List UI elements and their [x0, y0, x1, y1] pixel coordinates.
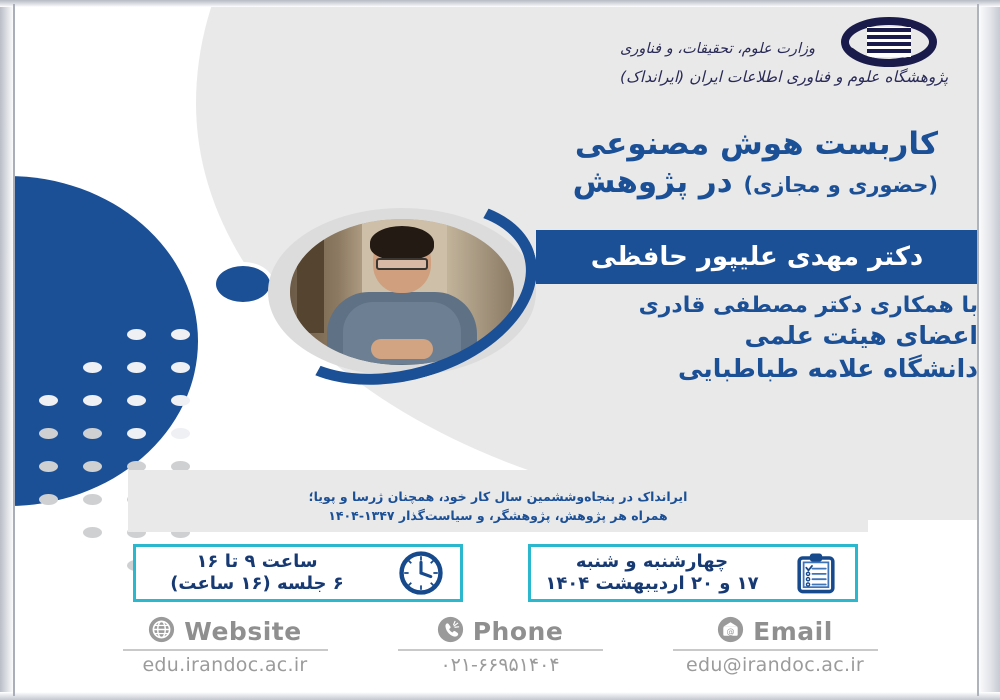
- description-text: ایرانداک در پنجاه‌وششمین سال کار خود، هم…: [128, 488, 868, 526]
- email-icon: @: [717, 616, 744, 647]
- title-line-1: کاربست هوش مصنوعی: [378, 126, 938, 164]
- poster-canvas: وزارت علوم، تحقیقات، و فناوری پژوهشگاه ع…: [0, 0, 1000, 700]
- title-line-2-main: در پژوهش: [573, 164, 733, 200]
- title-mode-note: (حضوری و مجازی): [743, 173, 938, 197]
- organization-names: وزارت علوم، تحقیقات، و فناوری پژوهشگاه ع…: [620, 36, 960, 91]
- university-line: دانشگاه علامه طباطبایی: [458, 353, 978, 386]
- institute-name: پژوهشگاه علوم و فناوری اطلاعات ایران (ای…: [620, 63, 960, 92]
- contact-phone-head: Phone: [375, 616, 625, 647]
- title-line-2: (حضوری و مجازی) در پژوهش: [378, 164, 938, 202]
- clipboard-checklist-icon: [777, 550, 855, 596]
- clock-icon: [382, 550, 460, 596]
- collaboration-block: با همکاری دکتر مصطفی قادری اعضای هیئت عل…: [458, 292, 978, 385]
- svg-text:@: @: [727, 626, 735, 636]
- contact-website[interactable]: Website edu.irandoc.ac.ir: [100, 616, 350, 686]
- info-box-time: ساعت ۹ تا ۱۶ ۶ جلسه (۱۶ ساعت): [133, 544, 463, 602]
- page-edge-top: [0, 0, 1000, 7]
- contact-website-value[interactable]: edu.irandoc.ac.ir: [123, 649, 328, 676]
- description-line-2: همراه هر پژوهش، پژوهشگر، و سیاست‌گذار ۱۳…: [128, 507, 868, 526]
- contact-website-head: Website: [100, 616, 350, 647]
- contact-email-head: @ Email: [650, 616, 900, 647]
- page-edge-bottom: [0, 692, 1000, 700]
- contact-phone-value[interactable]: ۰۲۱-۶۶۹۵۱۴۰۴: [398, 649, 603, 676]
- globe-icon: [148, 616, 175, 647]
- contact-phone-label: Phone: [473, 617, 564, 646]
- collaborator-name: با همکاری دکتر مصطفی قادری: [458, 292, 978, 320]
- page-rule-right: [977, 4, 979, 696]
- dates: ۱۷ و ۲۰ اردیبهشت ۱۴۰۴: [531, 573, 773, 596]
- contact-email-label: Email: [753, 617, 833, 646]
- contact-email[interactable]: @ Email edu@irandoc.ac.ir: [650, 616, 900, 686]
- speaker-name: دکتر مهدی علیپور حافظی: [591, 242, 924, 272]
- info-box-time-text: ساعت ۹ تا ۱۶ ۶ جلسه (۱۶ ساعت): [136, 551, 382, 596]
- info-box-date: چهارشنبه و شنبه ۱۷ و ۲۰ اردیبهشت ۱۴۰۴: [528, 544, 858, 602]
- page-edge-left: [0, 0, 14, 700]
- contact-email-value[interactable]: edu@irandoc.ac.ir: [673, 649, 878, 676]
- contact-phone[interactable]: Phone ۰۲۱-۶۶۹۵۱۴۰۴: [375, 616, 625, 686]
- info-box-date-text: چهارشنبه و شنبه ۱۷ و ۲۰ اردیبهشت ۱۴۰۴: [531, 551, 777, 596]
- contact-footer: Website edu.irandoc.ac.ir: [100, 616, 900, 686]
- decorative-dot-grid: [14, 318, 190, 582]
- weekdays: چهارشنبه و شنبه: [531, 551, 773, 574]
- page-edge-right: [978, 0, 1000, 700]
- description-line-1: ایرانداک در پنجاه‌وششمین سال کار خود، هم…: [128, 488, 868, 507]
- faculty-line: اعضای هیئت علمی: [458, 320, 978, 353]
- poster-title: کاربست هوش مصنوعی (حضوری و مجازی) در پژو…: [378, 126, 938, 202]
- ministry-name: وزارت علوم، تحقیقات، و فناوری: [620, 36, 960, 63]
- speaker-name-banner: دکتر مهدی علیپور حافظی: [536, 230, 978, 284]
- time-range: ساعت ۹ تا ۱۶: [136, 551, 378, 574]
- contact-website-label: Website: [184, 617, 301, 646]
- session-count: ۶ جلسه (۱۶ ساعت): [136, 573, 378, 596]
- phone-icon: [437, 616, 464, 647]
- decorative-blue-pill: [212, 262, 274, 306]
- page-rule-left: [13, 4, 15, 696]
